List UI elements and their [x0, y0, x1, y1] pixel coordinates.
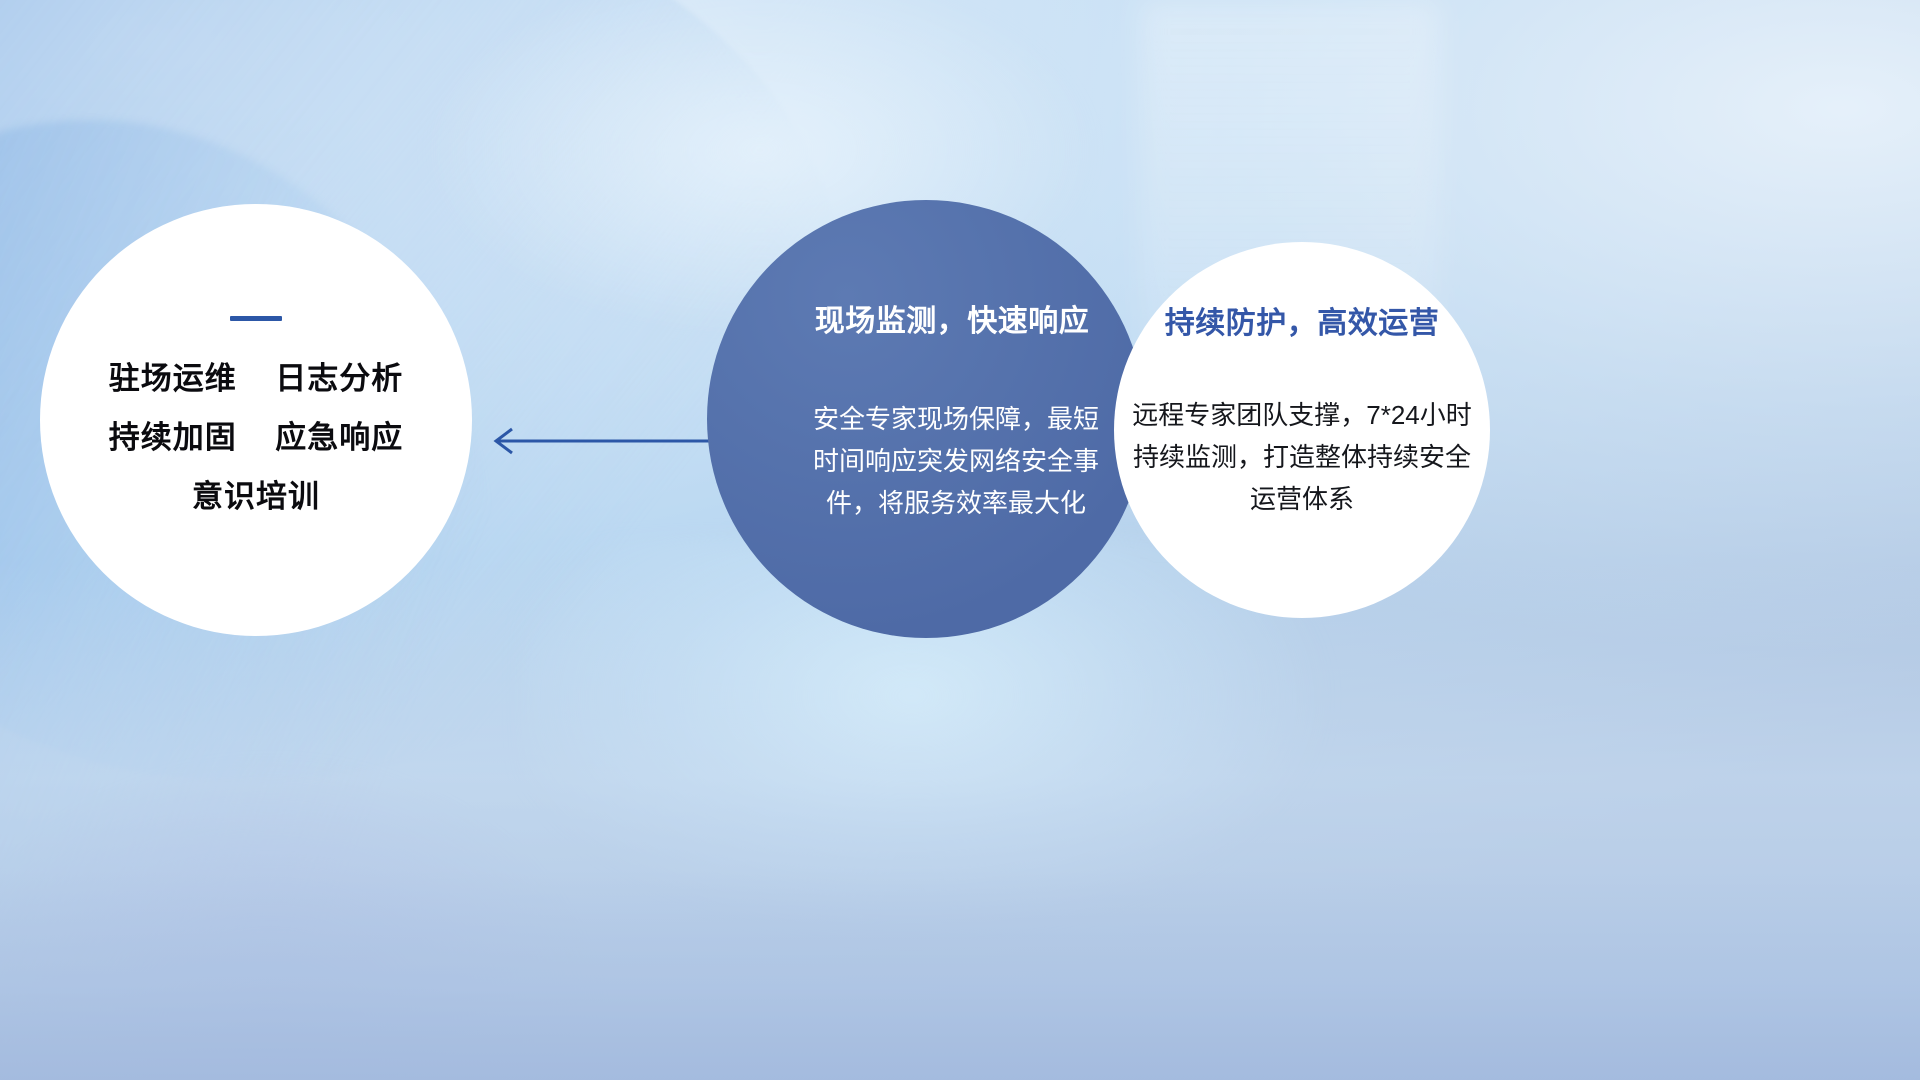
- capability-line-3: 意识培训: [192, 481, 320, 512]
- capabilities-circle-content: 驻场运维 日志分析 持续加固 应急响应 意识培训: [40, 204, 472, 636]
- onsite-monitoring-title: 现场监测，快速响应: [815, 296, 1090, 340]
- continuous-protection-circle[interactable]: 持续防护，高效运营 远程专家团队支撑，7*24小时持续监测，打造整体持续安全运营…: [1114, 242, 1490, 618]
- divider-dash-icon: [230, 316, 282, 321]
- capability-line-1: 驻场运维 日志分析: [109, 363, 403, 394]
- onsite-monitoring-body: 安全专家现场保障，最短时间响应突发网络安全事件，将服务效率最大化: [806, 398, 1106, 524]
- continuous-protection-content: 持续防护，高效运营 远程专家团队支撑，7*24小时持续监测，打造整体持续安全运营…: [1114, 242, 1490, 618]
- capability-line-2: 持续加固 应急响应: [109, 422, 403, 453]
- arrow-svg: [480, 418, 720, 464]
- capabilities-circle[interactable]: 驻场运维 日志分析 持续加固 应急响应 意识培训: [40, 204, 472, 636]
- onsite-monitoring-content: 现场监测，快速响应 安全专家现场保障，最短时间响应突发网络安全事件，将服务效率最…: [707, 200, 1145, 638]
- continuous-protection-title: 持续防护，高效运营: [1165, 298, 1440, 342]
- continuous-protection-body: 远程专家团队支撑，7*24小时持续监测，打造整体持续安全运营体系: [1126, 394, 1478, 520]
- onsite-monitoring-circle[interactable]: 现场监测，快速响应 安全专家现场保障，最短时间响应突发网络安全事件，将服务效率最…: [707, 200, 1145, 638]
- background-bottom-band: [0, 870, 1920, 1080]
- slide-canvas: 驻场运维 日志分析 持续加固 应急响应 意识培训 现场监测，快速响应 安全专家现…: [0, 0, 1920, 1080]
- left-pointing-arrow: [480, 418, 720, 464]
